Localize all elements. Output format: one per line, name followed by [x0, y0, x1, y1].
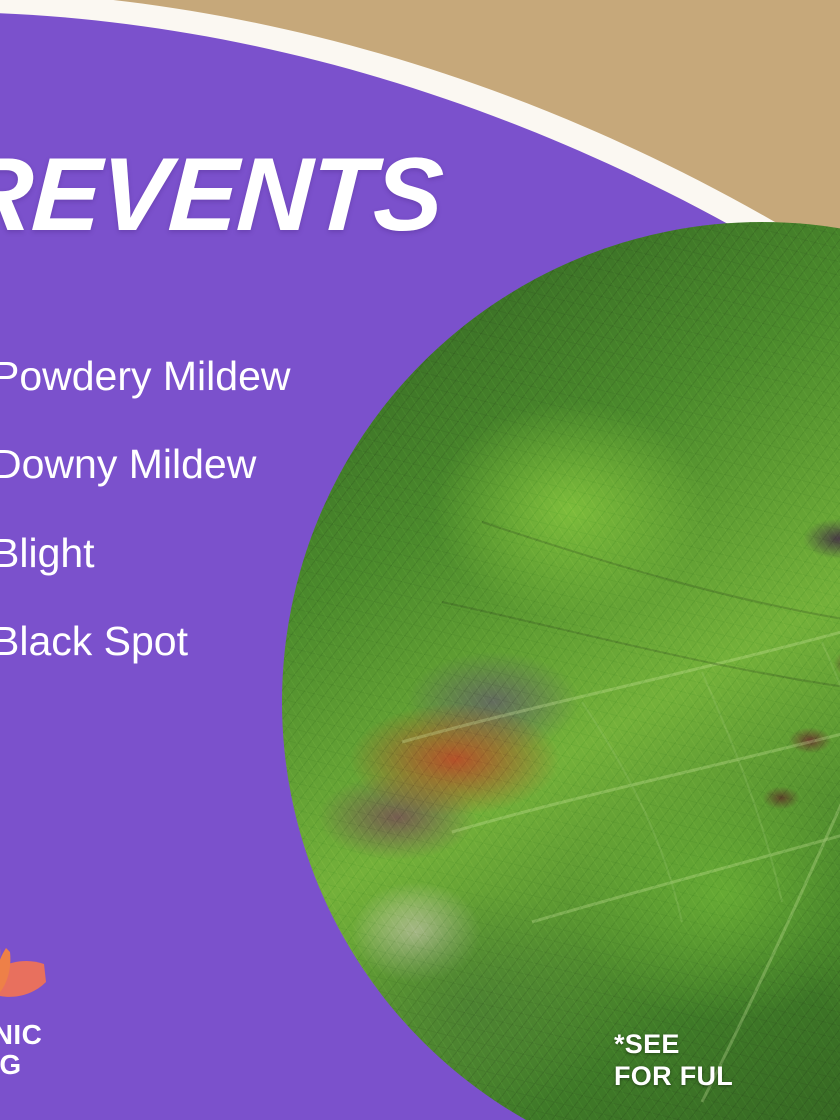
disclaimer-line2: FOR FUL	[614, 1061, 840, 1092]
disclaimer: *SEE FOR FUL	[614, 1029, 840, 1092]
brand-wordmark: GANIC NING	[0, 1020, 150, 1080]
brand-wordmark-line1: GANIC	[0, 1020, 150, 1050]
disease-list: Powdery Mildew Downy Mildew Blight Black…	[0, 355, 412, 709]
disclaimer-line1: *SEE	[614, 1029, 840, 1060]
poster-canvas: REVENTS Powdery Mildew Downy Mildew Blig…	[0, 0, 840, 1120]
brand-logo: GANIC NING	[0, 930, 138, 1100]
page-title: REVENTS	[0, 143, 445, 247]
flower-petal-icon	[0, 930, 88, 1022]
list-item: Downy Mildew	[0, 443, 412, 486]
list-item: Blight	[0, 532, 412, 575]
list-item: Powdery Mildew	[0, 355, 412, 398]
list-item: Black Spot	[0, 620, 412, 663]
brand-wordmark-line2: NING	[0, 1050, 150, 1080]
